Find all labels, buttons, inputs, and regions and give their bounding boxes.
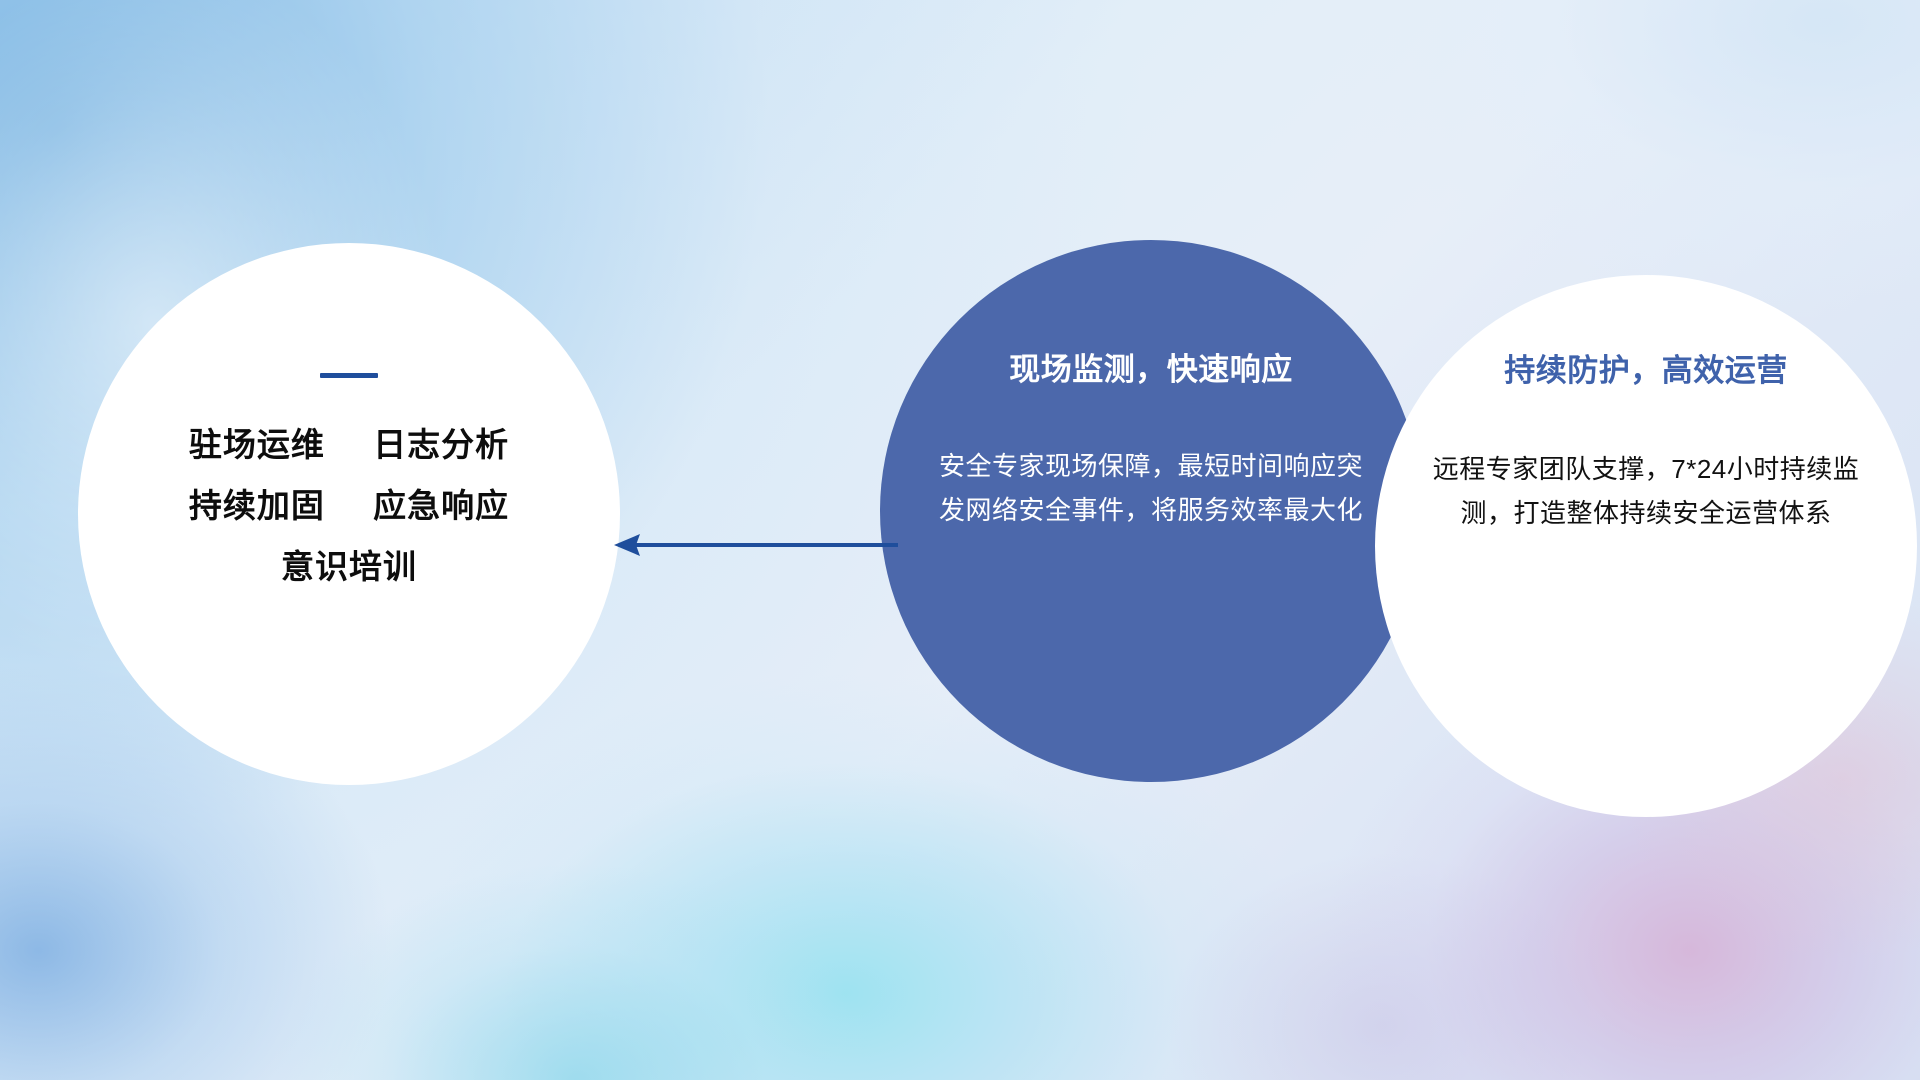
capability-row: 持续加固 应急响应 — [106, 475, 592, 536]
flow-arrow-left-icon — [610, 525, 900, 565]
continuous-protection-title: 持续防护，高效运营 — [1415, 345, 1877, 390]
continuous-protection-content: 持续防护，高效运营 远程专家团队支撑，7*24小时持续监测，打造整体持续安全运营… — [1375, 345, 1917, 535]
capabilities-circle[interactable]: 驻场运维 日志分析 持续加固 应急响应 意识培训 — [78, 243, 620, 785]
onsite-monitoring-title: 现场监测，快速响应 — [932, 344, 1370, 389]
onsite-monitoring-content: 现场监测，快速响应 安全专家现场保障，最短时间响应突发网络安全事件，将服务效率最… — [880, 344, 1422, 532]
continuous-protection-circle[interactable]: 持续防护，高效运营 远程专家团队支撑，7*24小时持续监测，打造整体持续安全运营… — [1375, 275, 1917, 817]
capability-label: 意识培训 — [281, 548, 417, 585]
onsite-monitoring-body: 安全专家现场保障，最短时间响应突发网络安全事件，将服务效率最大化 — [932, 445, 1370, 532]
capability-label: 驻场运维 — [189, 426, 325, 463]
capability-label: 应急响应 — [373, 487, 509, 524]
capability-row: 意识培训 — [106, 536, 592, 597]
slide-canvas: 驻场运维 日志分析 持续加固 应急响应 意识培训 现场监测，快速响应 安全专家现… — [0, 0, 1920, 1080]
capability-label: 持续加固 — [189, 487, 325, 524]
capability-row: 驻场运维 日志分析 — [106, 414, 592, 475]
capability-label: 日志分析 — [373, 426, 509, 463]
onsite-monitoring-circle[interactable]: 现场监测，快速响应 安全专家现场保障，最短时间响应突发网络安全事件，将服务效率最… — [880, 240, 1422, 782]
divider-dash-icon — [320, 373, 378, 378]
continuous-protection-body: 远程专家团队支撑，7*24小时持续监测，打造整体持续安全运营体系 — [1415, 448, 1877, 535]
capabilities-content: 驻场运维 日志分析 持续加固 应急响应 意识培训 — [78, 373, 620, 597]
